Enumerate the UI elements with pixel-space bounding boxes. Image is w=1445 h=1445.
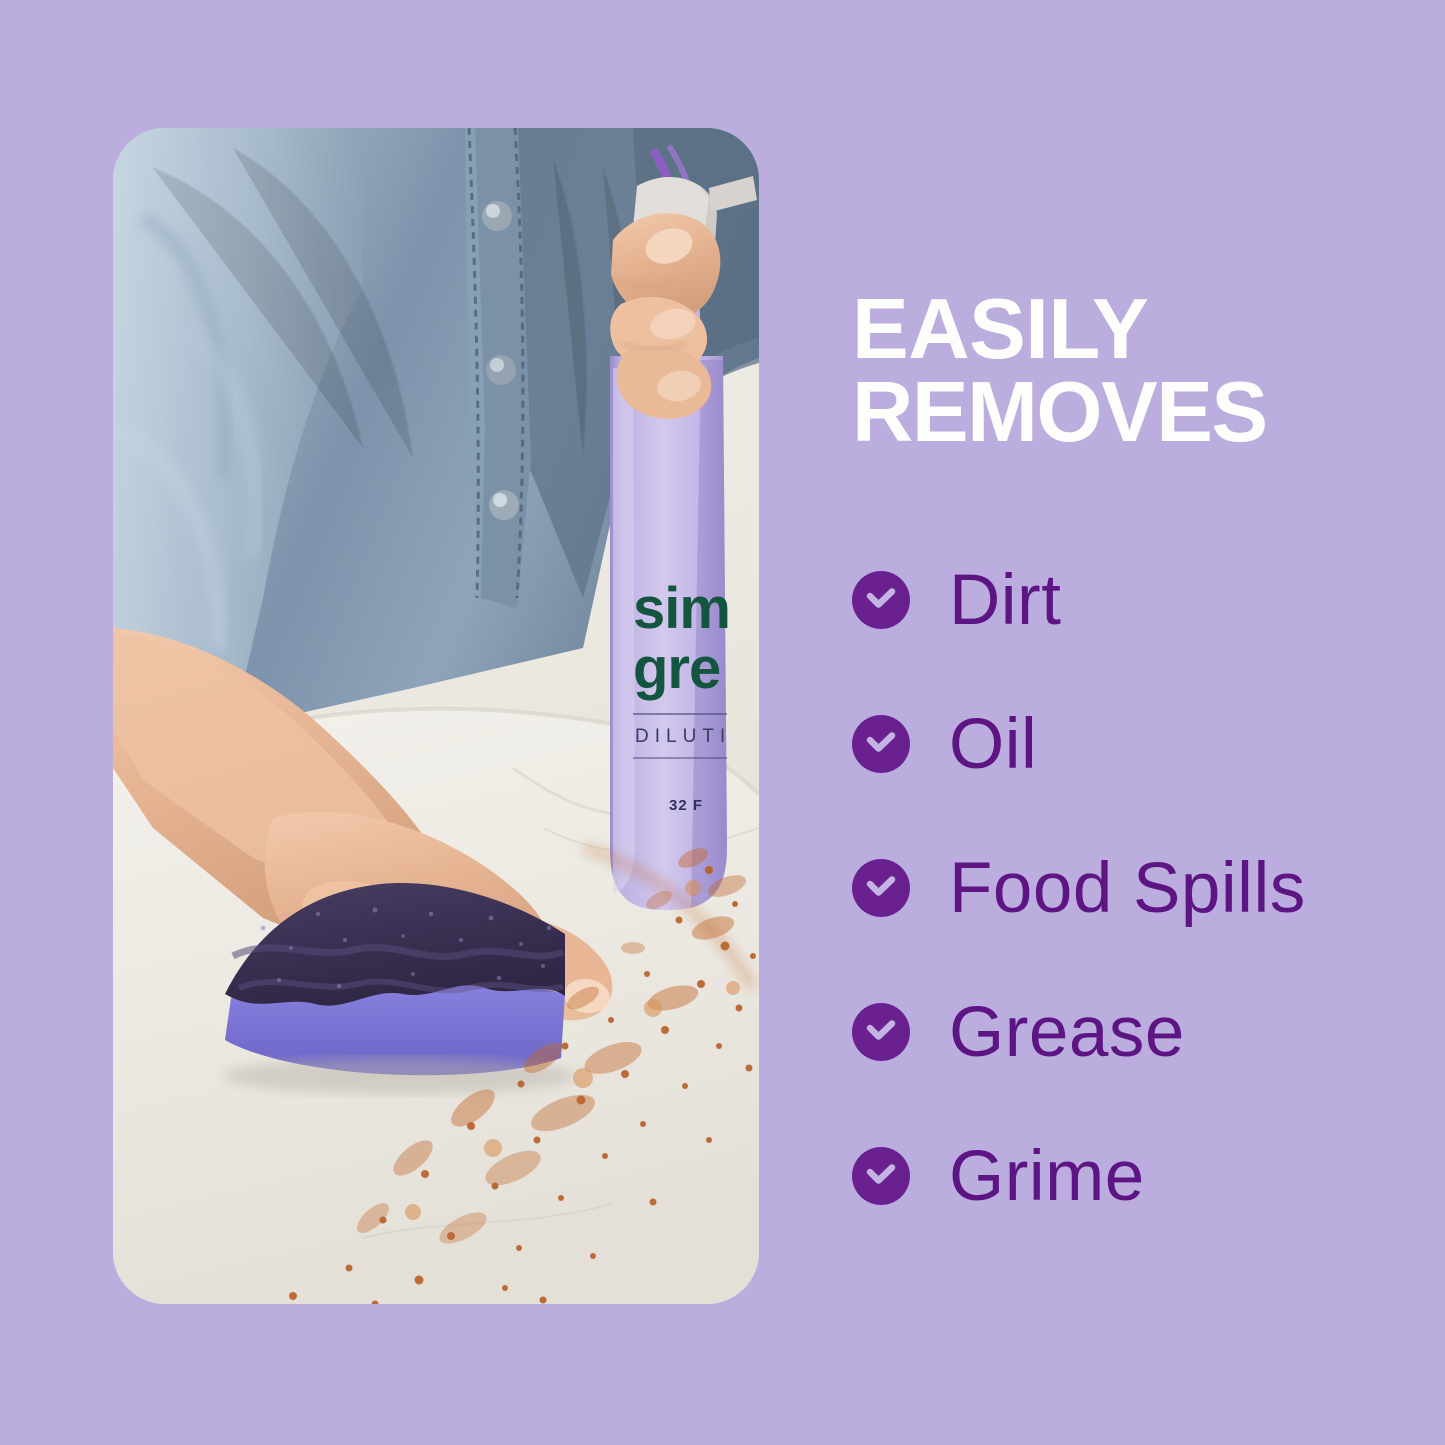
svg-text:DILUTI: DILUTI: [635, 726, 731, 747]
svg-text:32 F: 32 F: [669, 797, 703, 814]
benefit-label: Oil: [949, 709, 1037, 780]
list-item: Dirt: [852, 528, 1412, 672]
benefit-label: Dirt: [949, 565, 1061, 636]
check-circle-icon: [852, 571, 910, 629]
benefit-label: Grime: [949, 1141, 1145, 1212]
page-title: EASILY REMOVES: [852, 288, 1412, 455]
check-circle-icon: [852, 715, 910, 773]
check-circle-icon: [852, 1003, 910, 1061]
product-demo-photo: sim gre DILUTI 32 F: [113, 128, 759, 1304]
headline-line-1: EASILY: [852, 282, 1148, 377]
list-item: Grime: [852, 1104, 1412, 1248]
benefits-checklist: Dirt Oil Food Spills: [852, 528, 1412, 1248]
list-item: Grease: [852, 960, 1412, 1104]
list-item: Food Spills: [852, 816, 1412, 960]
svg-text:gre: gre: [633, 636, 720, 701]
benefits-panel: EASILY REMOVES Dirt Oil: [852, 128, 1392, 1304]
headline-line-2: REMOVES: [852, 371, 1412, 454]
check-circle-icon: [852, 859, 910, 917]
benefit-label: Food Spills: [949, 853, 1306, 924]
benefit-label: Grease: [949, 997, 1185, 1068]
promo-card: sim gre DILUTI 32 F: [0, 0, 1445, 1445]
check-circle-icon: [852, 1147, 910, 1205]
list-item: Oil: [852, 672, 1412, 816]
svg-text:sim: sim: [633, 576, 730, 641]
